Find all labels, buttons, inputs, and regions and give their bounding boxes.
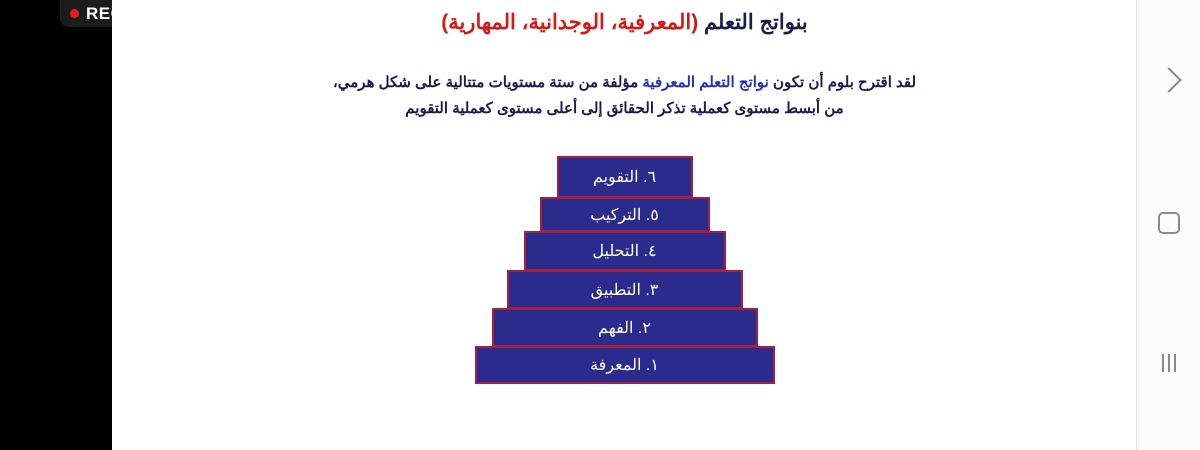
slide-title-lead: بنواتج التعلم	[698, 11, 808, 34]
pyramid-level-6: ٦. التقويم	[557, 156, 693, 198]
nav-recents-button[interactable]	[1137, 335, 1200, 391]
nav-back-button[interactable]	[1137, 52, 1200, 108]
pyramid-level-1: ١. المعرفة	[475, 346, 775, 384]
slide-title-highlight: (المعرفية، الوجدانية، المهارية)	[441, 11, 698, 34]
slide-title: بنواتج التعلم (المعرفية، الوجدانية، المه…	[112, 8, 1137, 38]
pyramid-level-5: ٥. التركيب	[540, 197, 710, 232]
pyramid-level-2: ٢. الفهم	[492, 308, 758, 347]
body-line1-part2: مؤلفة من ستة مستويات متتالية على شكل هرم…	[333, 74, 642, 91]
pyramid-level-4: ٤. التحليل	[524, 231, 726, 271]
android-navigation-bar	[1136, 0, 1200, 450]
pyramid-level-3: ٣. التطبيق	[507, 270, 743, 309]
body-line1-part1: لقد اقترح بلوم أن تكون	[769, 74, 916, 91]
slide-body-line-1: لقد اقترح بلوم أن تكون نواتج التعلم المع…	[112, 70, 1137, 96]
bloom-taxonomy-pyramid: ٦. التقويم ٥. التركيب ٤. التحليل ٣. التط…	[112, 157, 1137, 384]
device-screen: REC بنواتج التعلم (المعرفية، الوجدانية، …	[0, 0, 1200, 450]
home-square-icon	[1158, 212, 1180, 234]
record-dot-icon	[70, 9, 79, 18]
nav-home-button[interactable]	[1137, 195, 1200, 251]
body-line1-highlight: نواتج التعلم المعرفية	[642, 74, 768, 91]
slide-body-text: لقد اقترح بلوم أن تكون نواتج التعلم المع…	[112, 70, 1137, 123]
slide-page[interactable]: بنواتج التعلم (المعرفية، الوجدانية، المه…	[112, 0, 1137, 450]
recents-bars-icon	[1162, 354, 1176, 372]
slide-body-line-2: من أبسط مستوى كعملية تذكر الحقائق إلى أع…	[112, 96, 1137, 122]
chevron-right-icon	[1156, 67, 1181, 92]
